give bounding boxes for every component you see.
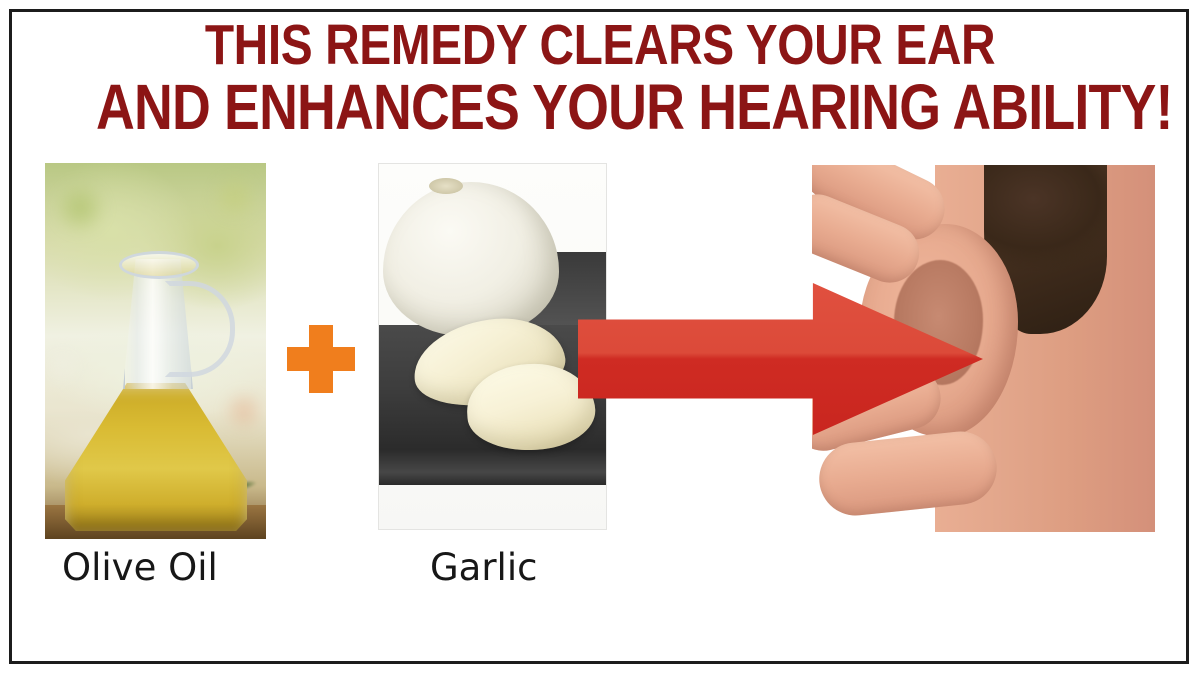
- page-title-line-1: THIS REMEDY CLEARS YOUR EAR: [96, 14, 1104, 76]
- garlic-caption: Garlic: [430, 546, 537, 589]
- garlic-bulb-stem: [429, 178, 463, 194]
- right-arrow-icon: [578, 283, 983, 435]
- garlic-bulb: [383, 182, 559, 336]
- plus-icon-vertical-bar: [309, 325, 333, 393]
- infographic-poster: THIS REMEDY CLEARS YOUR EAR AND ENHANCES…: [0, 0, 1200, 675]
- olive-oil-image: [45, 163, 266, 539]
- page-title-line-2: AND ENHANCES YOUR HEARING ABILITY!: [96, 76, 1104, 138]
- page-title: THIS REMEDY CLEARS YOUR EAR AND ENHANCES…: [96, 14, 1104, 138]
- plus-icon: [287, 325, 355, 393]
- olive-oil-caption: Olive Oil: [62, 546, 218, 589]
- garlic-image: [378, 163, 607, 530]
- olive-oil-carafe-rim: [119, 251, 199, 279]
- right-arrow-shape: [578, 283, 983, 435]
